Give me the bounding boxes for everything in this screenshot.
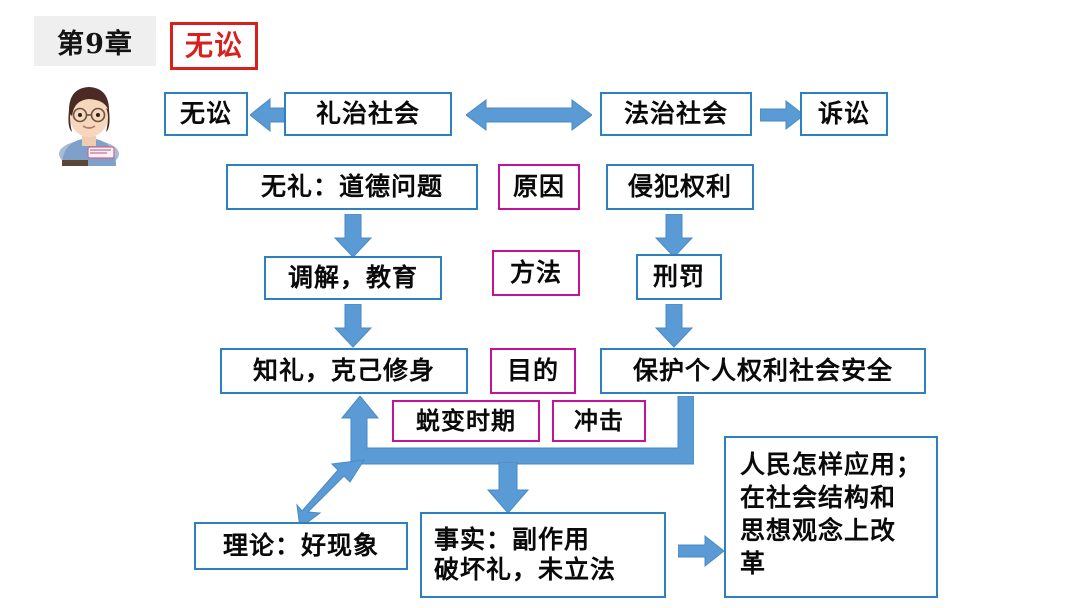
node-wuli-daode: 无礼：道德问题 bbox=[226, 164, 478, 210]
arrow-shishi-to-gaige bbox=[678, 534, 724, 568]
node-lizhi-shehui: 礼治社会 bbox=[284, 92, 452, 136]
node-yuanyin: 原因 bbox=[498, 164, 580, 210]
arrow-fazhi-to-susong bbox=[760, 99, 804, 131]
slide-canvas: 第9章 无讼 无讼 礼治社会 法治社会 bbox=[0, 0, 1080, 608]
node-xingfa: 刑罚 bbox=[636, 254, 722, 300]
arrow-xingfa-to-baohu bbox=[655, 304, 693, 348]
arrow-qinfan-to-xingfa bbox=[655, 214, 693, 258]
node-shishi: 事实：副作用 破坏礼，未立法 bbox=[420, 512, 666, 598]
topic-title-box: 无讼 bbox=[170, 22, 258, 70]
node-chongji: 冲击 bbox=[552, 400, 646, 442]
arrow-lizhi-fazhi bbox=[466, 98, 592, 132]
arrow-wuli-to-tiaojie bbox=[334, 214, 372, 258]
node-baohu-anquan: 保护个人权利社会安全 bbox=[600, 348, 926, 394]
node-mudi: 目的 bbox=[490, 348, 576, 394]
node-zhili-keji: 知礼，克己修身 bbox=[220, 348, 468, 394]
node-wusong: 无讼 bbox=[164, 92, 248, 136]
node-renmin-gaige: 人民怎样应用； 在社会结构和 思想观念上改 革 bbox=[724, 436, 938, 598]
node-qinfan-quanli: 侵犯权利 bbox=[606, 164, 754, 210]
chapter-label: 第9章 bbox=[34, 16, 156, 66]
arrow-loop-to-lilun bbox=[294, 458, 368, 532]
node-tiaojie-jiaoyu: 调解，教育 bbox=[264, 256, 442, 300]
node-tuibian-shiqi: 蜕变时期 bbox=[392, 400, 540, 442]
node-fangfa: 方法 bbox=[492, 250, 580, 296]
arrow-loop-to-shishi bbox=[487, 462, 529, 514]
teacher-avatar bbox=[52, 80, 126, 166]
node-lilun: 理论：好现象 bbox=[194, 522, 408, 570]
node-fazhi-shehui: 法治社会 bbox=[600, 92, 752, 136]
arrow-tiaojie-to-zhili bbox=[334, 304, 372, 348]
node-susong: 诉讼 bbox=[800, 92, 888, 136]
